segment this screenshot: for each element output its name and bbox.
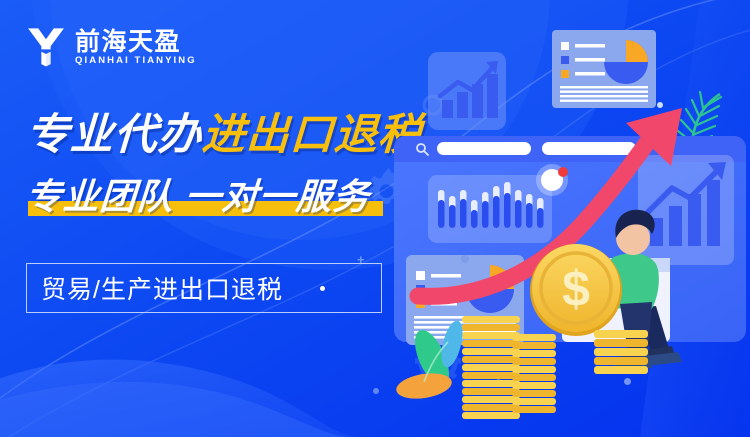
gold-coin: $ [530,244,622,336]
tagline-box: 贸易/生产进出口退税 [26,263,382,313]
growth-chart-card [428,52,506,130]
brand-name-en: QIANHAI TIANYING [75,56,197,66]
pie-report-card [552,30,656,108]
qianhai-y-mark-icon [26,26,66,68]
toggle-knob[interactable] [536,164,568,196]
tagline-dot [320,286,325,291]
brand-logo[interactable]: 前海天盈 QIANHAI TIANYING [26,26,197,68]
headline-line-1-white: 专业代办 [25,111,204,159]
headline-line-2-wrap: 专业团队 一对一服务 [26,168,426,222]
coin-dollar-sign: $ [562,261,590,317]
illustration-svg: $ [390,0,750,437]
coin-stack [594,330,648,374]
brand-name-cn: 前海天盈 [75,29,197,55]
headline-block: 专业代办进出口退税 专业团队 一对一服务 [26,112,426,222]
growth-chart-card-2 [638,155,734,265]
hero-illustration: $ [390,0,750,437]
search-field[interactable] [437,142,531,155]
headline-line-2: 专业团队 一对一服务 [24,168,372,220]
promo-banner: + + + + 前海天盈 QIANHAI TIANYING 专业代办进出口退税 … [0,0,750,437]
tagline-text: 贸易/生产进出口退税 [41,270,283,306]
headline-line-1: 专业代办进出口退税 [25,112,427,158]
decor-dot [373,388,379,394]
equalizer-card [428,175,552,243]
search-field[interactable] [542,142,636,155]
